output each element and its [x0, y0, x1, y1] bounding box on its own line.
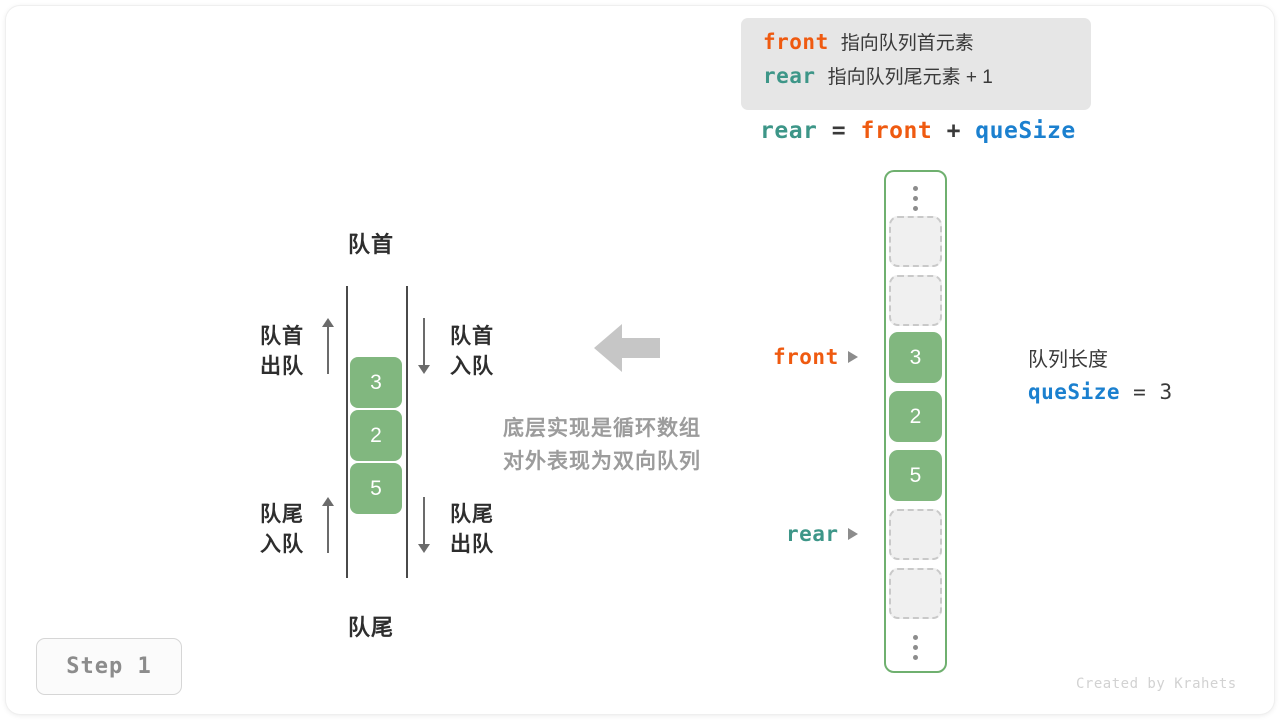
- deque-cell-2: 5: [350, 463, 402, 514]
- legend-row-rear: rear 指向队列尾元素 + 1: [763, 62, 1091, 96]
- queue-size-info: 队列长度 queSize = 3: [1028, 343, 1173, 404]
- deque-cell-0: 3: [350, 357, 402, 408]
- array-cell-6: [889, 568, 942, 619]
- array-cell-0: [889, 216, 942, 267]
- array-cell-1: [889, 275, 942, 326]
- array-pointer-front: front: [773, 345, 858, 369]
- legend-text-front: 指向队列首元素: [841, 28, 974, 55]
- deque-head-label: 队首: [348, 227, 394, 259]
- formula-front: front: [860, 118, 932, 144]
- pointer-legend-box: front 指向队列首元素 rear 指向队列尾元素 + 1: [741, 18, 1091, 110]
- deque-tail-label: 队尾: [348, 610, 394, 642]
- label-tail-enqueue: 队尾 入队: [250, 500, 304, 560]
- queue-size-expression: queSize = 3: [1028, 380, 1173, 404]
- rear-formula: rear = front + queSize: [760, 118, 1076, 144]
- big-left-arrow-icon: [594, 322, 660, 379]
- array-pointer-rear: rear: [786, 522, 858, 546]
- queue-size-var: queSize: [1028, 380, 1120, 404]
- array-top-ellipsis-icon: [889, 178, 942, 218]
- legend-text-rear: 指向队列尾元素 + 1: [828, 62, 993, 89]
- pointer-caret-front-icon: [848, 351, 858, 363]
- array-cell-2: 3: [889, 332, 942, 383]
- deque-cell-1: 2: [350, 410, 402, 461]
- array-bottom-ellipsis-icon: [889, 627, 942, 667]
- queue-size-equals: =: [1133, 380, 1146, 404]
- formula-lhs-rear: rear: [760, 118, 817, 144]
- arrow-down-head-enqueue-icon: [414, 318, 434, 374]
- formula-quesize: queSize: [975, 118, 1075, 144]
- label-head-enqueue-line1: 队首: [450, 322, 494, 352]
- diagram-canvas: front 指向队列首元素 rear 指向队列尾元素 + 1 rear = fr…: [0, 0, 1280, 720]
- label-tail-enqueue-line1: 队尾: [250, 500, 304, 530]
- array-cell-3: 2: [889, 391, 942, 442]
- legend-key-front: front: [763, 30, 829, 54]
- array-cell-5: [889, 509, 942, 560]
- step-badge: Step 1: [36, 638, 182, 695]
- deque-rail-left: [346, 286, 348, 578]
- legend-key-rear: rear: [763, 64, 816, 88]
- label-head-enqueue-line2: 入队: [450, 352, 494, 382]
- label-tail-enqueue-line2: 入队: [250, 530, 304, 560]
- label-head-dequeue-line2: 出队: [250, 352, 304, 382]
- legend-row-front: front 指向队列首元素: [763, 28, 1091, 62]
- label-head-enqueue: 队首 入队: [450, 322, 494, 382]
- center-note-line2: 对外表现为双向队列: [503, 445, 701, 478]
- array-pointer-rear-label: rear: [786, 522, 839, 546]
- queue-size-title: 队列长度: [1028, 343, 1173, 372]
- label-tail-dequeue-line2: 出队: [450, 530, 494, 560]
- queue-size-value: 3: [1159, 380, 1172, 404]
- formula-plus: +: [947, 118, 961, 144]
- formula-equals: =: [832, 118, 846, 144]
- pointer-caret-rear-icon: [848, 528, 858, 540]
- center-note-line1: 底层实现是循环数组: [503, 412, 701, 445]
- deque-rail-right: [406, 286, 408, 578]
- label-tail-dequeue: 队尾 出队: [450, 500, 494, 560]
- center-note: 底层实现是循环数组 对外表现为双向队列: [503, 412, 701, 478]
- arrow-up-head-dequeue-icon: [318, 318, 338, 374]
- watermark-credit: Created by Krahets: [1076, 676, 1237, 692]
- array-cell-4: 5: [889, 450, 942, 501]
- arrow-up-tail-enqueue-icon: [318, 497, 338, 553]
- label-tail-dequeue-line1: 队尾: [450, 500, 494, 530]
- array-pointer-front-label: front: [773, 345, 839, 369]
- label-head-dequeue: 队首 出队: [250, 322, 304, 382]
- arrow-down-tail-dequeue-icon: [414, 497, 434, 553]
- label-head-dequeue-line1: 队首: [250, 322, 304, 352]
